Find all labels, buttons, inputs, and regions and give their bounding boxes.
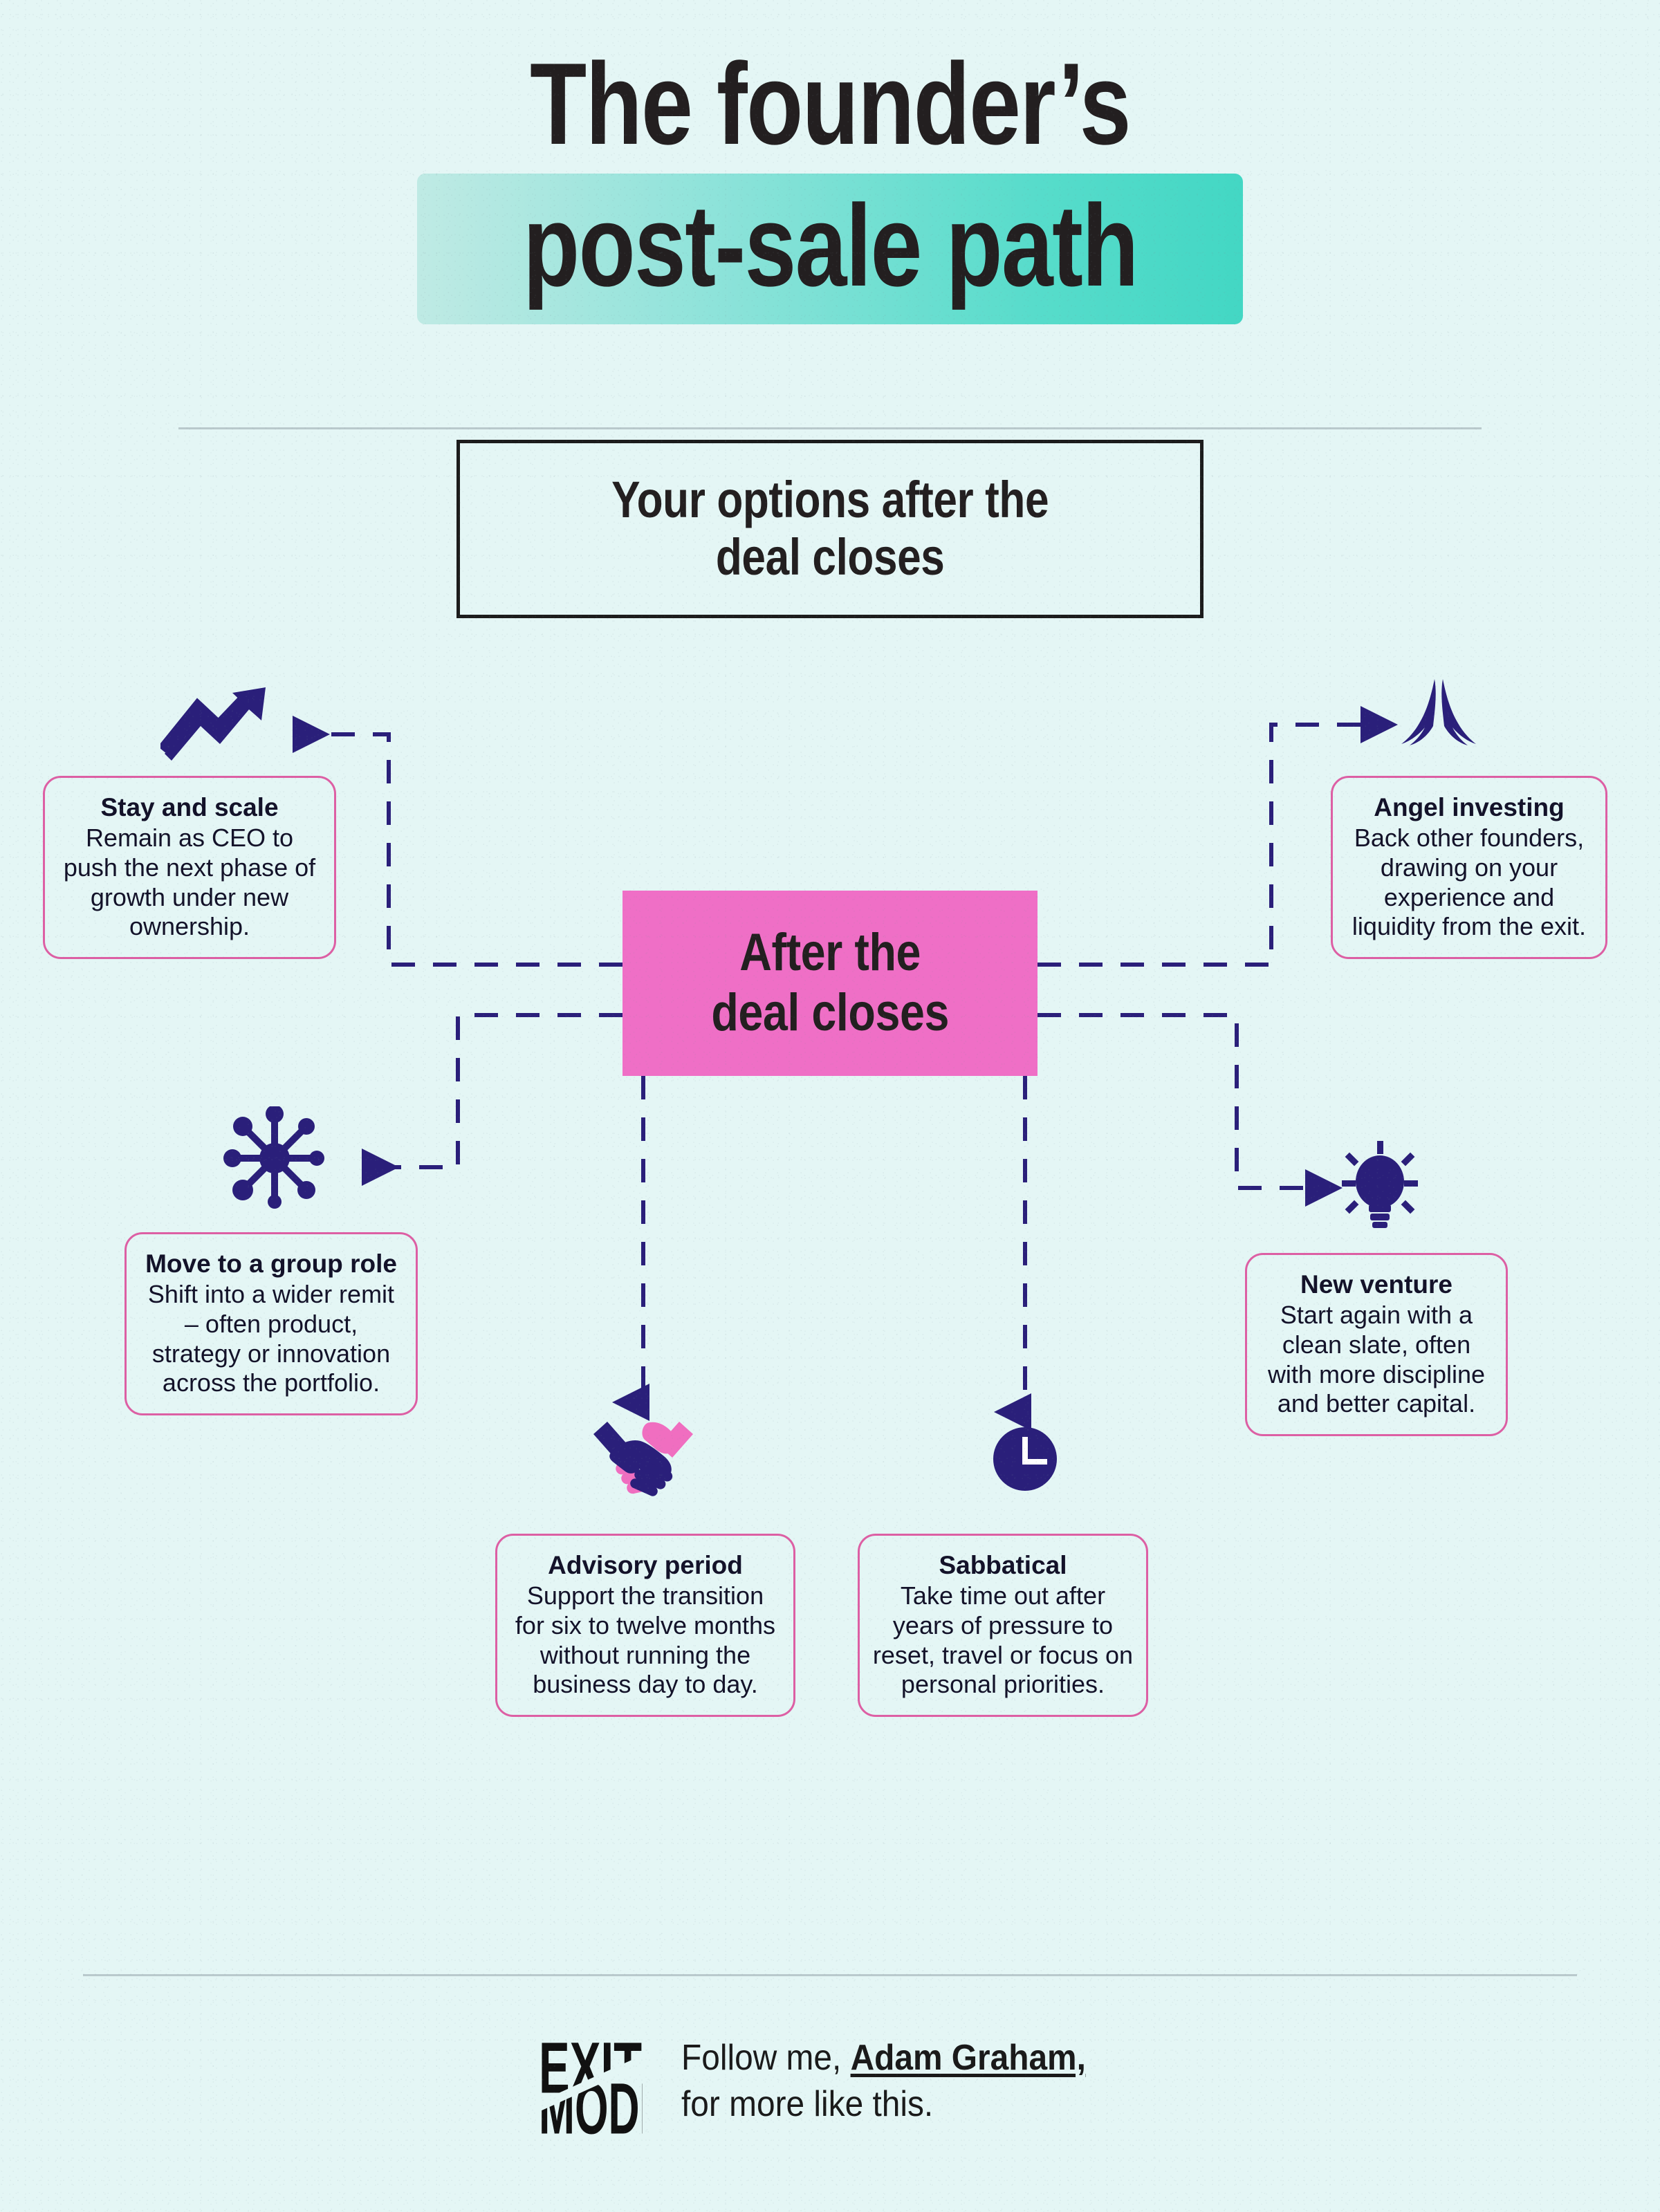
lightbulb-icon: [1342, 1141, 1418, 1228]
title-highlight: post-sale path: [417, 174, 1244, 324]
divider-bottom: [83, 1974, 1577, 1976]
footer-follow-text: Follow me, Adam Graham, for more like th…: [681, 2035, 1086, 2127]
wire-to-newventure: [1037, 1015, 1311, 1188]
card-title: Stay and scale: [57, 793, 322, 823]
card-body: Back other founders, drawing on your exp…: [1345, 824, 1593, 942]
page-title: The founder’s post-sale path: [0, 41, 1660, 324]
divider-top: [178, 427, 1482, 429]
card-body: Shift into a wider remit – often product…: [139, 1280, 403, 1398]
card-title: New venture: [1260, 1270, 1493, 1300]
wire-to-stay: [299, 734, 622, 965]
card-angel-investing: Angel investing Back other founders, dra…: [1331, 776, 1607, 959]
card-sabbatical: Sabbatical Take time out after years of …: [858, 1534, 1148, 1717]
card-advisory-period: Advisory period Support the transition f…: [495, 1534, 795, 1717]
footer: EXIT MODE Follow me, Adam Graham, for mo…: [0, 2005, 1660, 2157]
card-new-venture: New venture Start again with a clean sla…: [1245, 1253, 1508, 1436]
follow-suffix: for more like this.: [681, 2081, 1086, 2128]
card-body: Start again with a clean slate, often wi…: [1260, 1301, 1493, 1419]
network-nodes-icon: [223, 1106, 326, 1210]
growth-arrow-icon: [160, 685, 270, 761]
card-title: Advisory period: [510, 1551, 781, 1581]
title-line-2: post-sale path: [523, 183, 1138, 308]
card-body: Remain as CEO to push the next phase of …: [57, 824, 322, 942]
follow-prefix: Follow me,: [681, 2038, 851, 2078]
card-body: Take time out after years of pressure to…: [872, 1581, 1134, 1700]
center-node-after-the-deal-closes: After the deal closes: [622, 891, 1037, 1076]
card-body: Support the transition for six to twelve…: [510, 1581, 781, 1700]
card-title: Angel investing: [1345, 793, 1593, 823]
handshake-icon: [592, 1416, 694, 1499]
card-title: Sabbatical: [872, 1551, 1134, 1581]
subtitle-line-1: Your options after the: [611, 472, 1049, 529]
wire-to-group: [368, 1015, 622, 1167]
subtitle-line-2: deal closes: [611, 529, 1049, 586]
adam-graham-link[interactable]: Adam Graham,: [851, 2038, 1086, 2078]
card-title: Move to a group role: [139, 1249, 403, 1279]
wire-to-angel: [1037, 725, 1367, 965]
center-node-line-1: After the: [711, 923, 949, 983]
card-move-to-a-group-role: Move to a group role Shift into a wider …: [124, 1232, 418, 1415]
clock-icon: [992, 1426, 1058, 1492]
center-node-line-2: deal closes: [711, 983, 949, 1043]
angel-wings-icon: [1397, 678, 1480, 747]
title-line-1: The founder’s: [166, 41, 1494, 167]
card-stay-and-scale: Stay and scale Remain as CEO to push the…: [43, 776, 336, 959]
exit-mode-logo: EXIT MODE: [539, 2026, 643, 2137]
subtitle-box: Your options after the deal closes: [456, 440, 1203, 618]
